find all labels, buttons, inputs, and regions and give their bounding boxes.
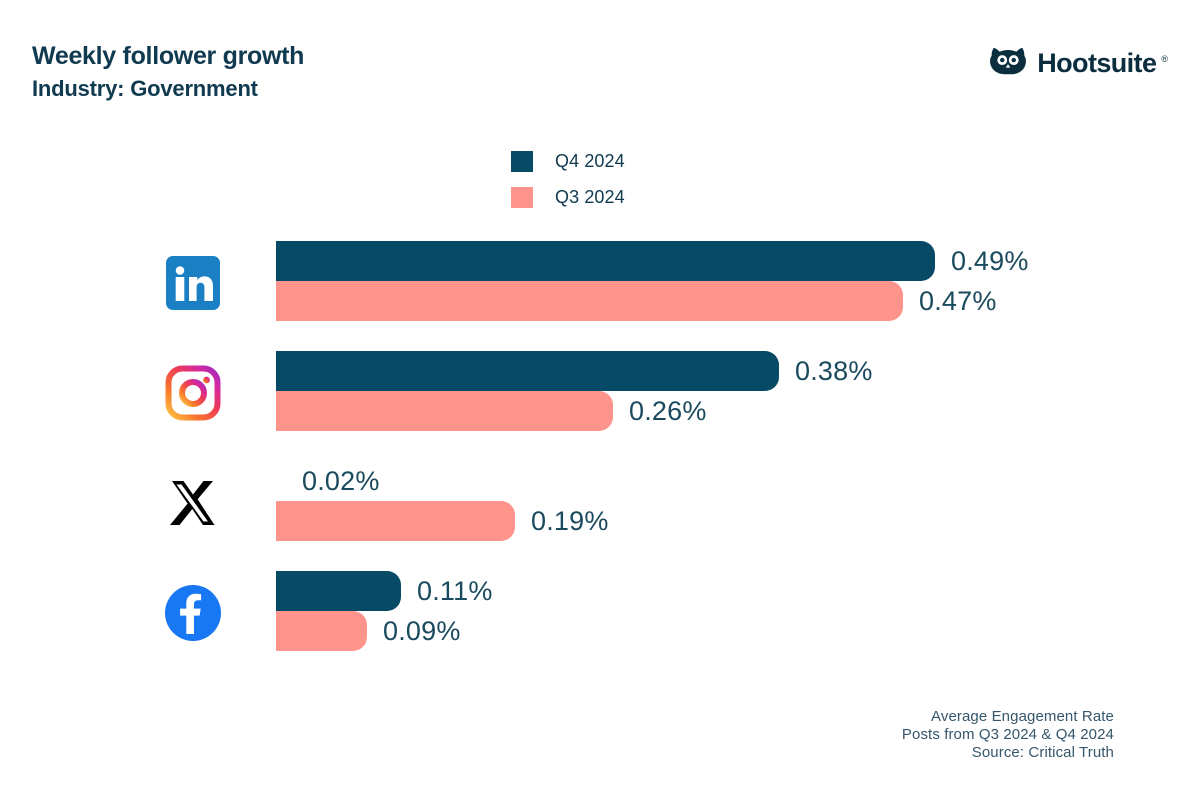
bar-value-q4: 0.49% — [951, 246, 1029, 277]
legend-label-q4: Q4 2024 — [555, 151, 625, 172]
instagram-icon — [160, 360, 226, 426]
owl-icon — [988, 46, 1028, 81]
legend-item-q4: Q4 2024 — [511, 148, 625, 174]
bar-track-q3: 0.19% — [276, 501, 609, 541]
legend-label-q3: Q3 2024 — [555, 187, 625, 208]
chart-group-x: 0.02% 0.19% — [0, 448, 1200, 558]
bar-value-q3: 0.09% — [383, 616, 461, 647]
linkedin-icon — [160, 250, 226, 316]
bar-value-q3: 0.26% — [629, 396, 707, 427]
bar-row-facebook: 0.11% 0.09% — [276, 558, 1200, 668]
x-icon — [160, 470, 226, 536]
footnote-line-2: Posts from Q3 2024 & Q4 2024 — [902, 726, 1114, 744]
bar-row-linkedin: 0.49% 0.47% — [276, 228, 1200, 338]
legend-swatch-q4 — [511, 151, 533, 172]
bar-row-x: 0.02% 0.19% — [276, 448, 1200, 558]
bar-track-q4: 0.02% — [276, 461, 380, 501]
bar-q3 — [276, 611, 367, 651]
page-subtitle: Industry: Government — [32, 73, 304, 105]
footnote-line-3: Source: Critical Truth — [902, 744, 1114, 762]
page-title: Weekly follower growth — [32, 40, 304, 73]
bar-q3 — [276, 391, 613, 431]
bar-track-q3: 0.09% — [276, 611, 461, 651]
hootsuite-logo: Hootsuite ® — [988, 46, 1168, 81]
bar-q3 — [276, 501, 515, 541]
title-block: Weekly follower growth Industry: Governm… — [32, 40, 304, 105]
bar-value-q3: 0.19% — [531, 506, 609, 537]
bar-track-q4: 0.49% — [276, 241, 1029, 281]
registered-mark: ® — [1161, 54, 1168, 64]
chart-group-linkedin: 0.49% 0.47% — [0, 228, 1200, 338]
chart-group-instagram: 0.38% 0.26% — [0, 338, 1200, 448]
chart-header: Weekly follower growth Industry: Governm… — [32, 40, 1168, 110]
chart-legend: Q4 2024 Q3 2024 — [511, 148, 625, 220]
bar-track-q3: 0.47% — [276, 281, 997, 321]
bar-track-q4: 0.38% — [276, 351, 873, 391]
chart-group-facebook: 0.11% 0.09% — [0, 558, 1200, 668]
chart-footnote: Average Engagement Rate Posts from Q3 20… — [902, 708, 1114, 762]
footnote-line-1: Average Engagement Rate — [902, 708, 1114, 726]
legend-item-q3: Q3 2024 — [511, 184, 625, 210]
facebook-icon — [160, 580, 226, 646]
bar-row-instagram: 0.38% 0.26% — [276, 338, 1200, 448]
bar-q4 — [276, 571, 401, 611]
bar-q4 — [276, 241, 935, 281]
bar-value-q4: 0.02% — [302, 466, 380, 497]
bar-value-q4: 0.38% — [795, 356, 873, 387]
bar-q4 — [276, 351, 779, 391]
bar-track-q3: 0.26% — [276, 391, 707, 431]
bar-value-q4: 0.11% — [417, 576, 493, 607]
legend-swatch-q3 — [511, 187, 533, 208]
brand-name: Hootsuite — [1037, 48, 1156, 79]
bar-track-q4: 0.11% — [276, 571, 493, 611]
bar-q3 — [276, 281, 903, 321]
bar-value-q3: 0.47% — [919, 286, 997, 317]
bar-chart: 0.49% 0.47% — [0, 228, 1200, 668]
